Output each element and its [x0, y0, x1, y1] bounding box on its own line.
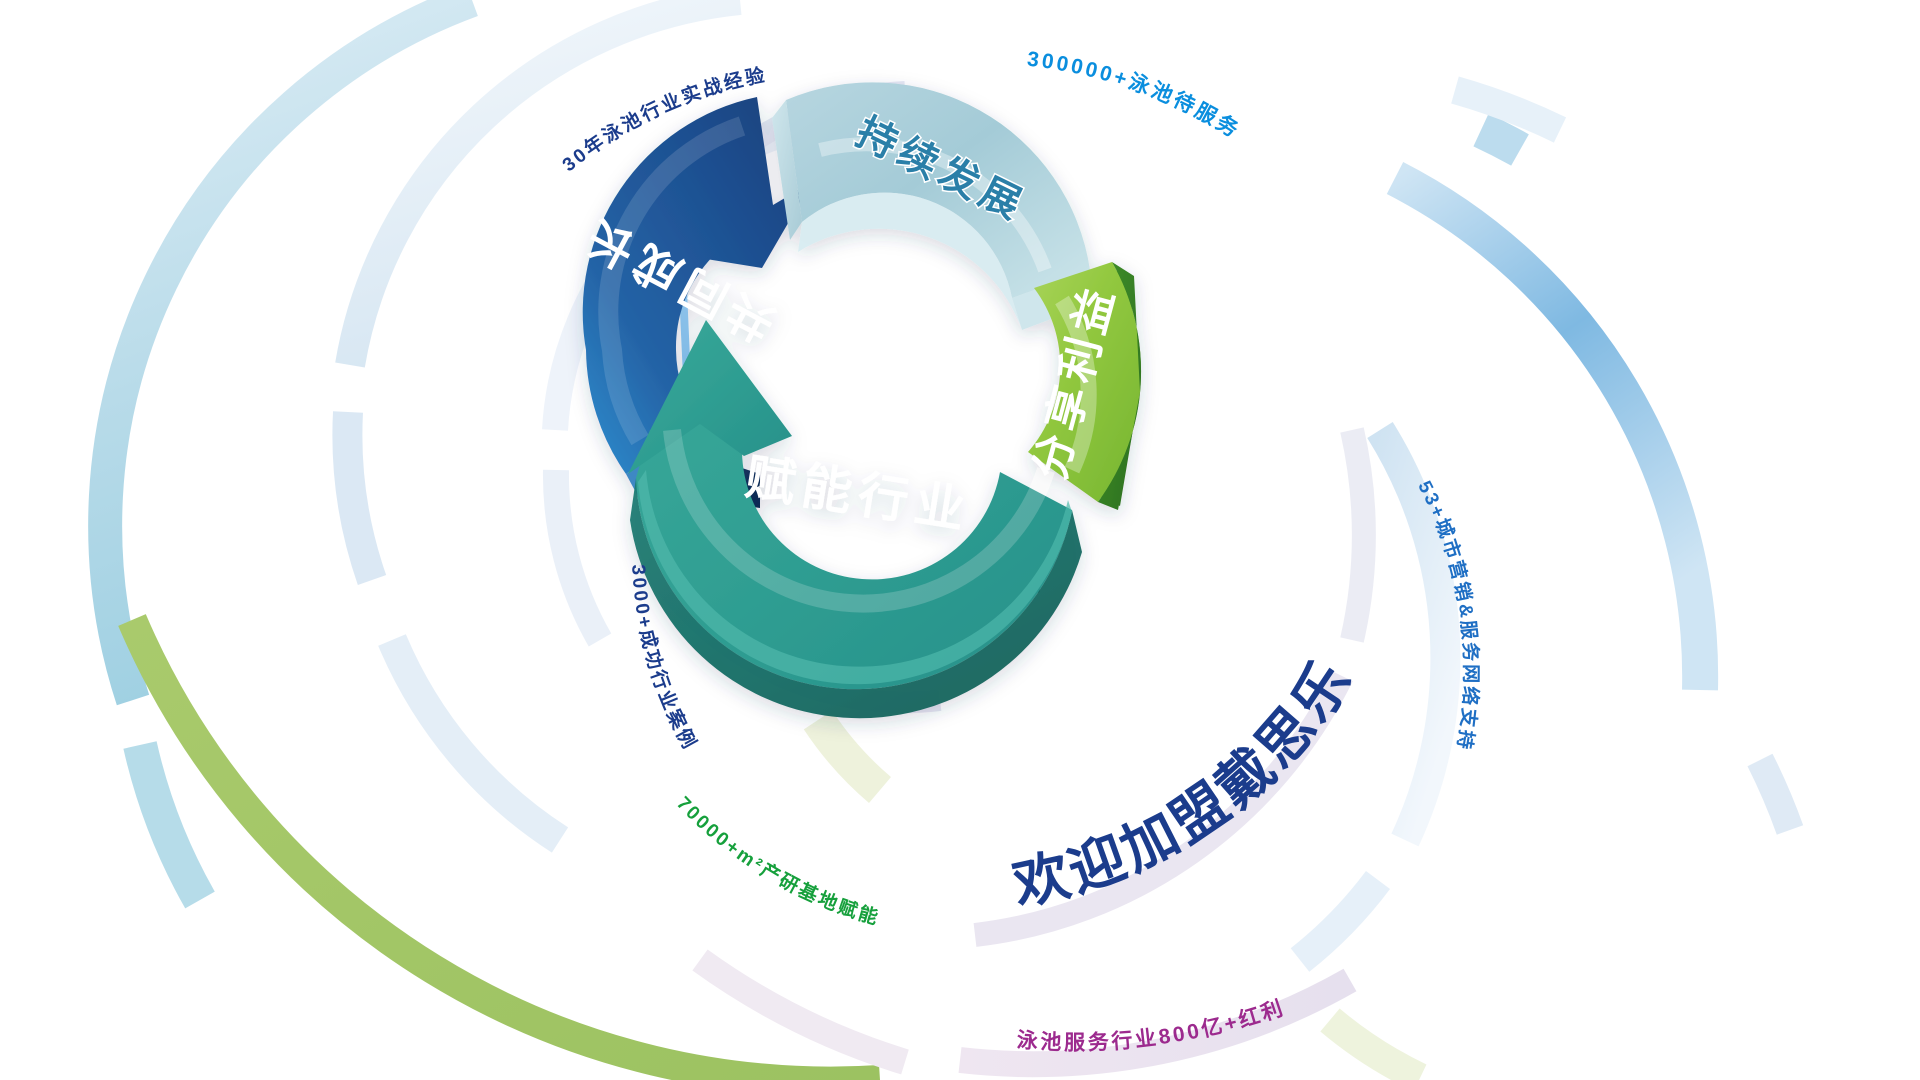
annotation-rd-base: 70000+m²产研基地赋能 [672, 793, 883, 930]
arc-right-pale-2 [1300, 880, 1378, 960]
arc-outer-blue-left-tail [140, 745, 200, 900]
scene-svg: 共同成长 持续发展 分享利益 [0, 0, 1920, 1080]
arc-lilac-bottom-2 [700, 960, 905, 1062]
arc-right-blue-cap [1481, 130, 1520, 150]
arc-green-wedge [818, 720, 880, 790]
growth-cycle-ring: 共同成长 持续发展 分享利益 [573, 82, 1141, 718]
arc-welcome-ring-2 [1352, 430, 1364, 640]
arc-green-wedge-2 [1330, 1020, 1420, 1078]
arc-pale-left-2 [347, 412, 372, 580]
annotation-pools-awaiting-service: 300000+泳池待服务 [1026, 48, 1245, 144]
poster-canvas: 共同成长 持续发展 分享利益 [0, 0, 1920, 1080]
arc-right-faint [1760, 760, 1790, 830]
arc-pale-left-3 [392, 640, 560, 840]
segment-empower-industry-label: 赋能行业 [742, 449, 976, 540]
segment-empower-industry[interactable]: 赋能行业 [628, 320, 1082, 718]
annotation-industry-dividend: 泳池服务行业800亿+红利 [1016, 996, 1288, 1055]
arc-inner-pale-left-2 [556, 470, 600, 640]
arc-outer-blue-left [105, 0, 472, 700]
annotation-welcome-to-join: 欢迎加盟戴思乐 [1006, 647, 1364, 916]
